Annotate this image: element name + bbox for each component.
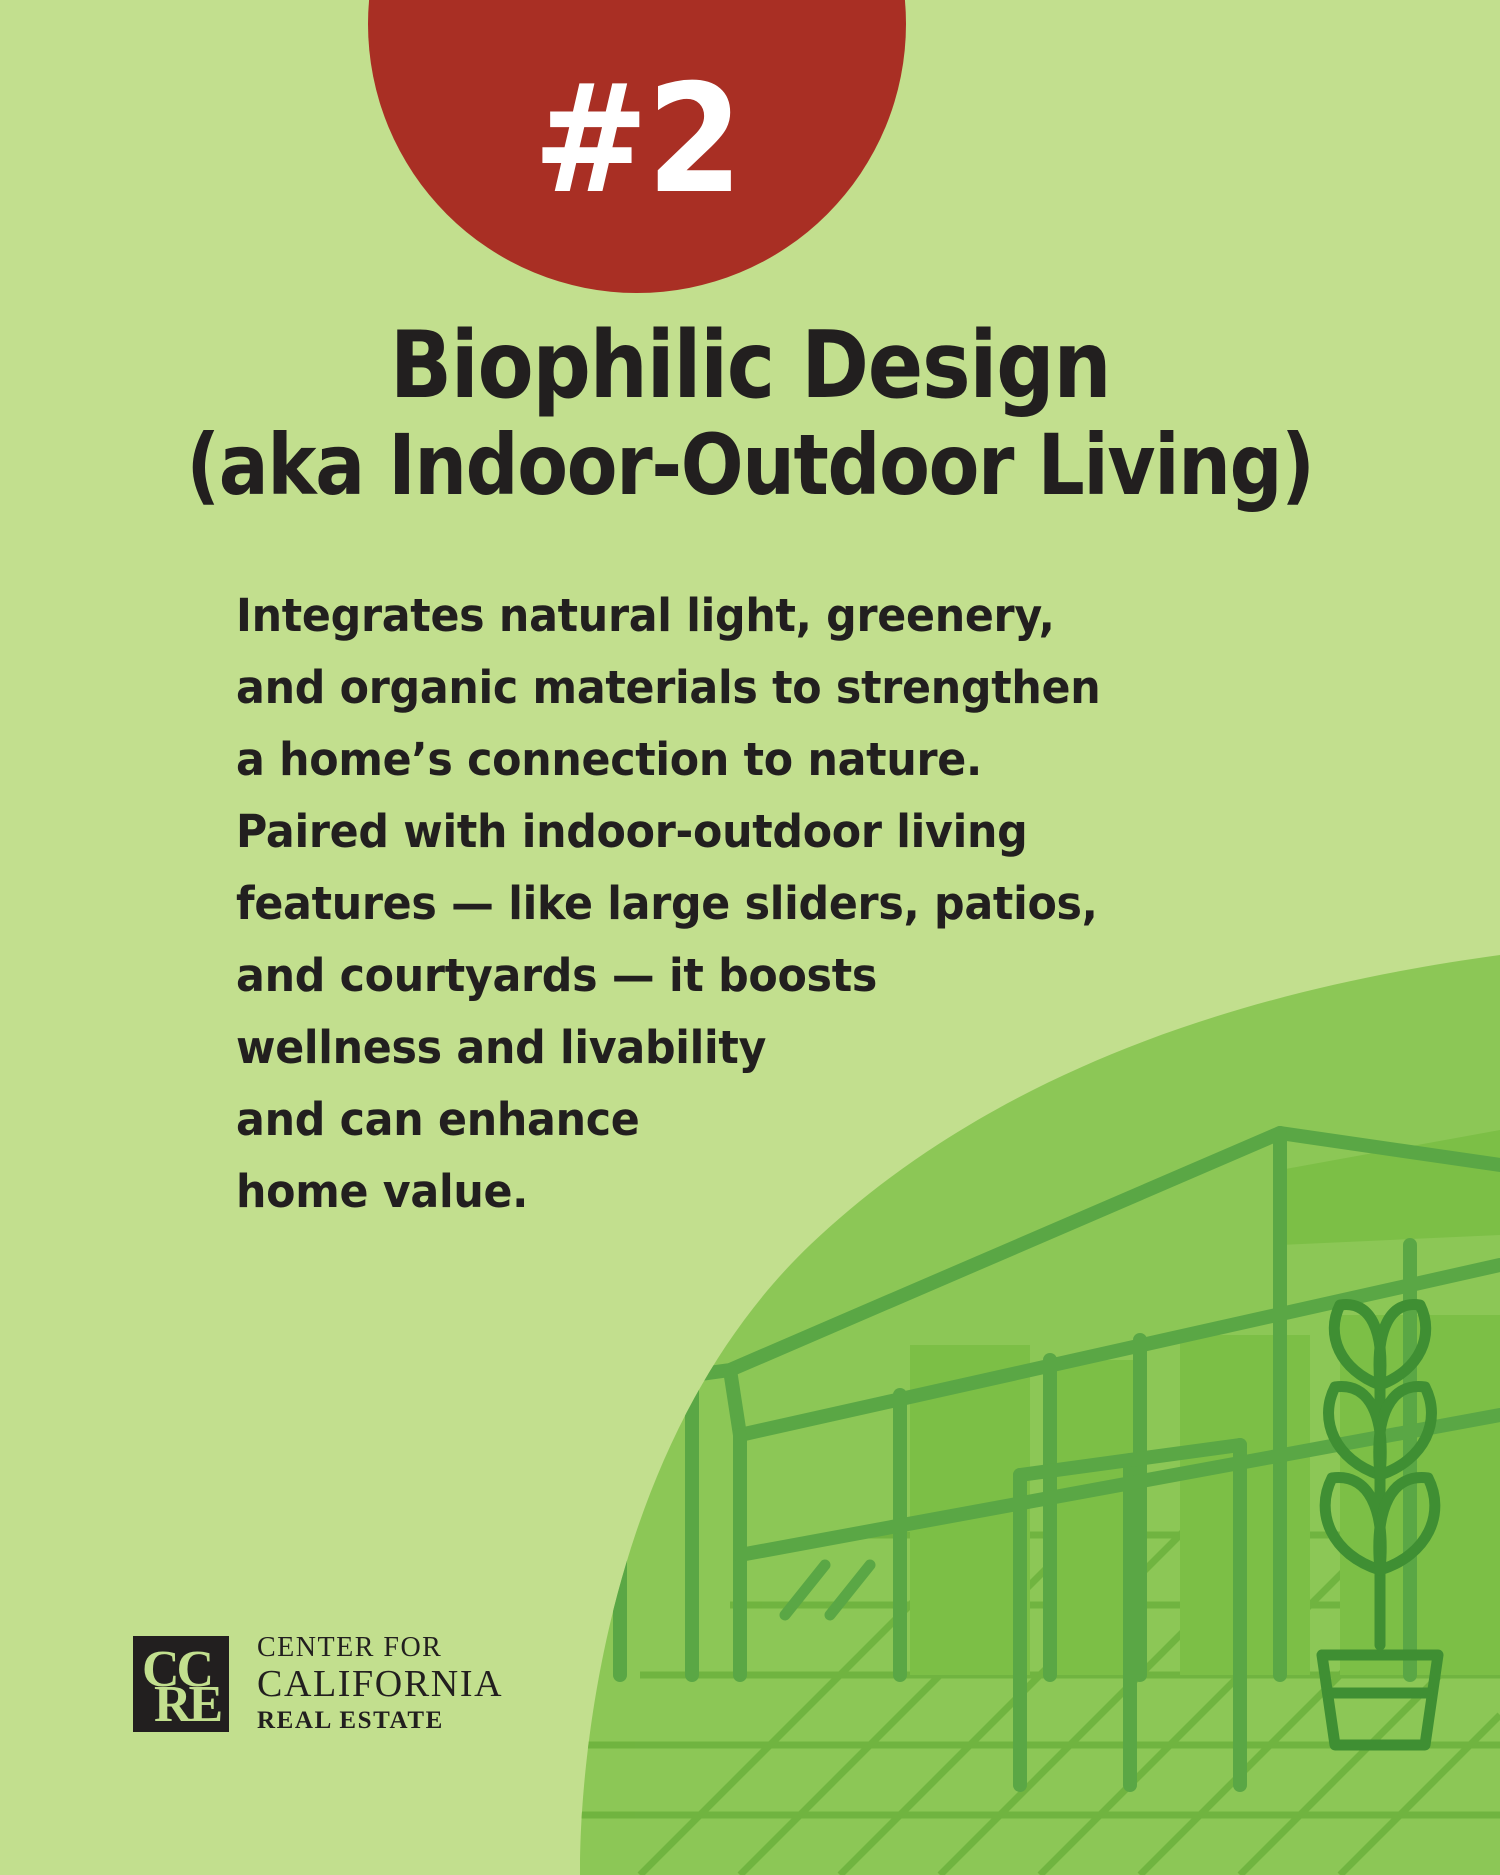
ccre-logo-mark: CC RE [133,1636,229,1732]
rank-badge-number: #2 [533,65,741,293]
potted-plant [1322,1304,1438,1745]
body-line: Paired with indoor-outdoor living [236,796,1015,868]
body-line: wellness and livability [236,1012,1015,1084]
body-line: and organic materials to strengthen [236,652,1015,724]
patio-tile-grid [580,1515,1500,1875]
title-line-secondary: (aka Indoor-Outdoor Living) [90,419,1410,511]
rank-badge: #2 [368,0,906,293]
ccre-logo-wordmark: Center for California Real Estate [257,1632,503,1735]
title-line-primary: Biophilic Design [90,318,1410,413]
body-line: features — like large sliders, patios, [236,868,1015,940]
logo-word-line-1: Center for [257,1632,503,1664]
logo-mark-bottom: RE [154,1679,220,1731]
glass-glint [785,1565,870,1615]
body-copy: Integrates natural light, greenery, and … [236,580,1015,1228]
poster-canvas: #2 Biophilic Design (aka Indoor-Outdoor … [0,0,1500,1875]
body-line: home value. [236,1156,1015,1228]
ccre-logo: CC RE Center for California Real Estate [133,1632,503,1735]
roof-shade [1280,1130,1500,1245]
wall-panels [910,1315,1500,1675]
body-line: and can enhance [236,1084,1015,1156]
body-line: and courtyards — it boosts [236,940,1015,1012]
logo-word-line-3: Real Estate [257,1706,503,1735]
body-line: Integrates natural light, greenery, [236,580,1015,652]
logo-word-line-2: California [257,1664,503,1706]
page-title: Biophilic Design (aka Indoor-Outdoor Liv… [0,318,1500,511]
body-line: a home’s connection to nature. [236,724,1015,796]
house-outline [620,1133,1500,1785]
